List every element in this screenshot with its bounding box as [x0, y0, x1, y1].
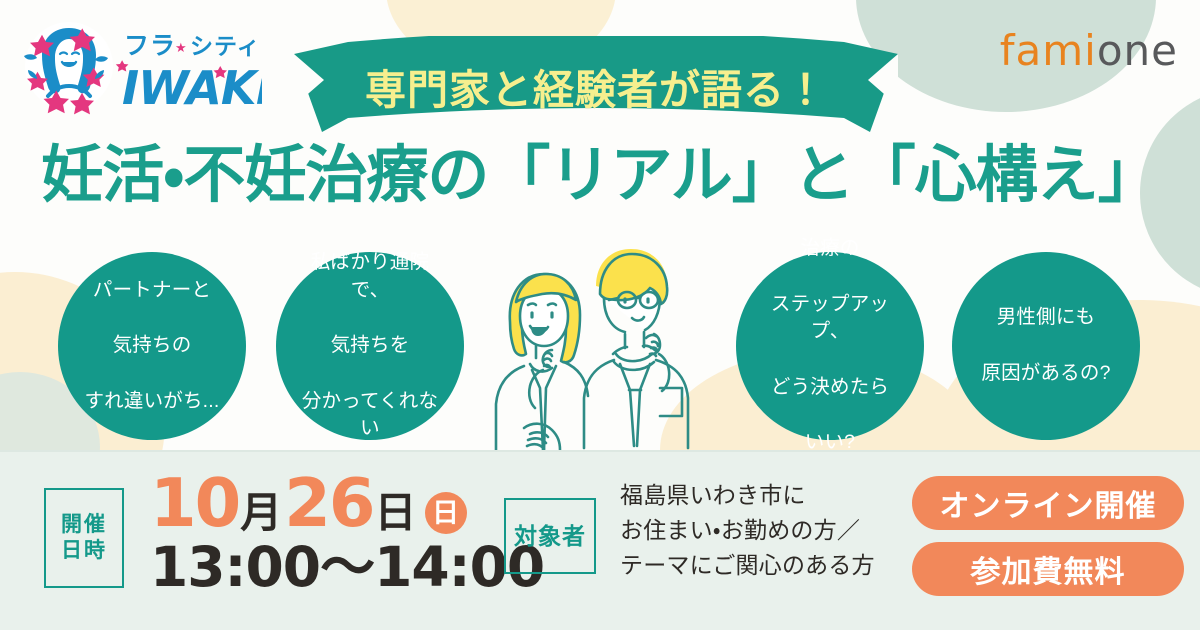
- event-weekday-badge: 日: [425, 492, 467, 534]
- pain-circle-clinic-alone: 私ばかり通院で、 気持ちを 分かってくれない: [276, 252, 464, 440]
- famione-logo: famione: [1000, 30, 1178, 72]
- target-label-box: 対象者: [504, 498, 596, 574]
- date-label-line2: 日時: [61, 539, 107, 562]
- page-title: 妊活・不妊治療の「リアル」と「心構え」: [0, 143, 1200, 208]
- panel-divider: [0, 450, 1200, 452]
- pain-circle-step-up: 治療の ステップアップ、 どう決めたら いい?: [736, 252, 924, 440]
- svg-text:フラ: フラ: [124, 31, 176, 60]
- date-label-line1: 開催: [61, 513, 107, 536]
- couple-thinking-illustration: [468, 238, 738, 450]
- hula-city-iwaki-logo: フラ ★ シティ IWAKi: [12, 12, 262, 120]
- ribbon-banner: 専門家と経験者が語る！: [292, 36, 900, 144]
- badge-free: 参加費無料: [912, 542, 1184, 596]
- date-label-box: 開催 日時: [44, 488, 124, 588]
- famione-logo-one: one: [1097, 26, 1178, 75]
- event-day-number: 26: [284, 470, 373, 537]
- svg-text:★: ★: [175, 41, 187, 56]
- hula-girl-icon: [24, 22, 113, 114]
- famione-logo-fami: fami: [1000, 26, 1097, 75]
- target-audience-text: 福島県いわき市に お住まい・お勤めの方／ テーマにご関心のある方: [620, 478, 875, 583]
- pain-circle-line: いい?: [744, 429, 916, 457]
- event-month-unit: 月: [239, 492, 284, 537]
- svg-text:シティ: シティ: [190, 34, 261, 60]
- event-day-unit: 日: [374, 492, 419, 537]
- pain-circle-line: 原因があるの?: [973, 360, 1118, 388]
- svg-text:IWAKi: IWAKi: [122, 61, 262, 115]
- pain-circle-line: 私ばかり通院で、: [284, 249, 456, 304]
- pain-circle-line: ステップアップ、: [744, 291, 916, 346]
- pain-circle-line: 治療の: [744, 235, 916, 263]
- target-line: テーマにご関心のある方: [620, 552, 875, 578]
- pain-circle-line: 男性側にも: [973, 304, 1118, 332]
- pain-circle-partner-gap: パートナーと 気持ちの すれ違いがち...: [58, 252, 246, 440]
- pain-circle-line: 気持ちの: [76, 332, 227, 360]
- pain-circle-line: 気持ちを: [284, 332, 456, 360]
- event-month-number: 10: [150, 470, 239, 537]
- pain-circle-line: どう決めたら: [744, 374, 916, 402]
- badge-online: オンライン開催: [912, 476, 1184, 530]
- pain-circle-male-factor: 男性側にも 原因があるの?: [952, 252, 1140, 440]
- pain-circle-line: すれ違いがち...: [76, 388, 227, 416]
- pain-circle-line: 分かってくれない: [284, 388, 456, 443]
- event-time: 13:00〜14:00: [150, 540, 544, 595]
- ribbon-text: 専門家と経験者が語る！: [292, 36, 900, 144]
- target-line: お住まい・お勤めの方／: [620, 517, 860, 543]
- hula-city-wordmark: フラ ★ シティ IWAKi: [116, 31, 262, 115]
- event-date: 10 月 26 日 日: [150, 470, 467, 537]
- target-line: 福島県いわき市に: [620, 482, 806, 508]
- pain-circle-line: パートナーと: [76, 277, 227, 305]
- event-banner: フラ ★ シティ IWAKi famione 専門家と経験者が語る！ 妊活・不妊…: [0, 0, 1200, 630]
